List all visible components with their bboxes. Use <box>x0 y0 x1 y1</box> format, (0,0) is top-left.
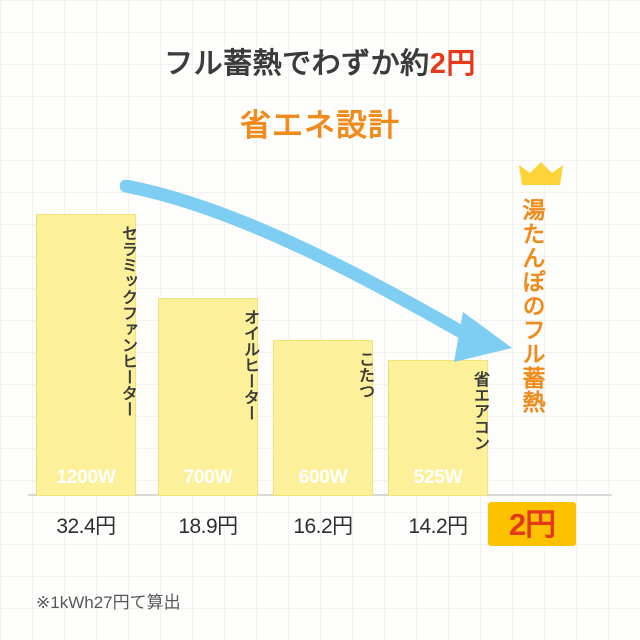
bar-watt-eco-air-conditioner: 525W <box>389 467 487 489</box>
bar-watt-kotatsu: 600W <box>274 467 372 489</box>
bar-price-eco-air-conditioner: 14.2円 <box>388 510 488 540</box>
bar-label-kotatsu: こたつ <box>274 351 372 399</box>
bar-kotatsu: こたつ 600W <box>273 340 373 496</box>
title-prefix: フル蓄熱でわずか約 <box>164 48 430 80</box>
infographic-page: フル蓄熱でわずか約2円 省エネ設計 セラミックファンヒーター 1200W 32.… <box>0 0 640 640</box>
page-title-line1: フル蓄熱でわずか約2円 <box>0 40 640 82</box>
bar-label-eco-air-conditioner: 省エアコン <box>389 371 487 451</box>
bar-label-oil-heater: オイルヒーター <box>159 309 257 421</box>
highlight-price-box: 2円 <box>488 502 576 546</box>
bar-price-kotatsu: 16.2円 <box>273 510 373 540</box>
bar-price-ceramic-fan-heater: 32.4円 <box>36 510 136 540</box>
highlight-price: 2円 <box>509 509 555 540</box>
crown-icon <box>518 160 564 190</box>
bar-watt-ceramic-fan-heater: 1200W <box>37 467 135 489</box>
bar-watt-oil-heater: 700W <box>159 467 257 489</box>
footnote: ※1kWh27円て算出 <box>36 588 181 613</box>
bar-eco-air-conditioner: 省エアコン 525W <box>388 360 488 496</box>
title-accent: 2円 <box>430 48 476 80</box>
bar-ceramic-fan-heater: セラミックファンヒーター 1200W <box>36 214 136 496</box>
bar-price-oil-heater: 18.9円 <box>158 510 258 540</box>
page-title-line2: 省エネ設計 <box>0 100 640 145</box>
bar-chart: セラミックファンヒーター 1200W 32.4円 オイルヒーター 700W 18… <box>0 150 640 580</box>
highlight-label: 湯たんぽのフル蓄熱 <box>498 198 544 414</box>
bar-oil-heater: オイルヒーター 700W <box>158 298 258 496</box>
bar-label-ceramic-fan-heater: セラミックファンヒーター <box>37 225 135 417</box>
